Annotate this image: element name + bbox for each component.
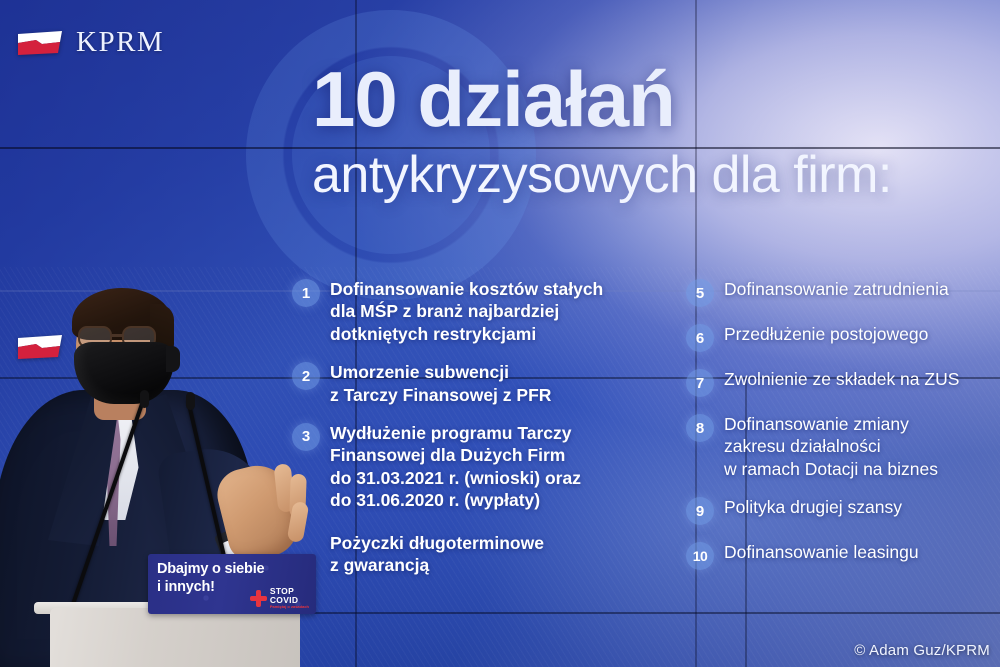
item-number-badge: 10 xyxy=(686,542,714,570)
list-item: 10 Dofinansowanie leasingu xyxy=(686,541,998,570)
podium-sign: Dbajmy o siebie i innych! STOP COVID Pam… xyxy=(148,554,316,614)
list-item: 5 Dofinansowanie zatrudnienia xyxy=(686,278,998,307)
item-number-badge: 9 xyxy=(686,497,714,525)
item-text: Przedłużenie postojowego xyxy=(724,323,928,345)
podium-slogan: Dbajmy o siebie i innych! xyxy=(157,561,264,596)
item-number-badge: 7 xyxy=(686,369,714,397)
badge-line-2: COVID xyxy=(270,596,309,604)
item-number-badge: 6 xyxy=(686,324,714,352)
medical-cross-icon xyxy=(250,590,267,607)
item-text: Polityka drugiej szansy xyxy=(724,496,902,518)
face-mask-strap xyxy=(166,346,180,372)
press-conference-photo: KPRM KPRM 10 działań antykryzysowych dla… xyxy=(0,0,1000,667)
list-item: 2 Umorzenie subwencji z Tarczy Finansowe… xyxy=(292,361,660,406)
measures-column-right: 5 Dofinansowanie zatrudnienia 6 Przedłuż… xyxy=(686,278,998,592)
item-text: Wydłużenie programu Tarczy Finansowej dl… xyxy=(330,422,581,512)
headline-line-1: 10 działań xyxy=(312,62,992,137)
microphone-capsule-right xyxy=(186,392,195,410)
stop-covid-badge: STOP COVID Pamiętaj o zasadach xyxy=(250,587,309,609)
list-item: 7 Zwolnienie ze składek na ZUS xyxy=(686,368,998,397)
stop-covid-wordmark: STOP COVID Pamiętaj o zasadach xyxy=(270,587,309,609)
measures-list: 1 Dofinansowanie kosztów stałych dla MŚP… xyxy=(292,278,998,592)
badge-subtext: Pamiętaj o zasadach xyxy=(270,605,309,609)
list-item: 8 Dofinansowanie zmiany zakresu działaln… xyxy=(686,413,998,480)
item-text: Zwolnienie ze składek na ZUS xyxy=(724,368,959,390)
list-item: 1 Dofinansowanie kosztów stałych dla MŚP… xyxy=(292,278,660,345)
measures-column-left: 1 Dofinansowanie kosztów stałych dla MŚP… xyxy=(292,278,660,592)
item-text: Dofinansowanie zmiany zakresu działalnoś… xyxy=(724,413,938,480)
photo-credit: © Adam Guz/KPRM xyxy=(854,642,990,659)
item-text: Dofinansowanie zatrudnienia xyxy=(724,278,949,300)
list-item: 9 Polityka drugiej szansy xyxy=(686,496,998,525)
item-text: Dofinansowanie kosztów stałych dla MŚP z… xyxy=(330,278,603,345)
item-text: Pożyczki długoterminowe z gwarancją xyxy=(330,532,544,577)
item-number-badge: 8 xyxy=(686,414,714,442)
list-item: 3 Wydłużenie programu Tarczy Finansowej … xyxy=(292,422,660,512)
item-text: Umorzenie subwencji z Tarczy Finansowej … xyxy=(330,361,551,406)
item-number-badge: 5 xyxy=(686,279,714,307)
kprm-wordmark: KPRM xyxy=(76,26,164,59)
slide-headline: 10 działań antykryzysowych dla firm: xyxy=(312,62,992,202)
lectern xyxy=(50,608,300,667)
microphone-capsule-left xyxy=(140,390,149,408)
list-item: 6 Przedłużenie postojowego xyxy=(686,323,998,352)
kprm-logo-top: KPRM xyxy=(16,26,164,59)
list-item-occluded-number: Pożyczki długoterminowe z gwarancją xyxy=(330,532,660,577)
polish-flag-icon xyxy=(16,30,64,56)
item-text: Dofinansowanie leasingu xyxy=(724,541,919,563)
headline-line-2: antykryzysowych dla firm: xyxy=(312,149,992,202)
